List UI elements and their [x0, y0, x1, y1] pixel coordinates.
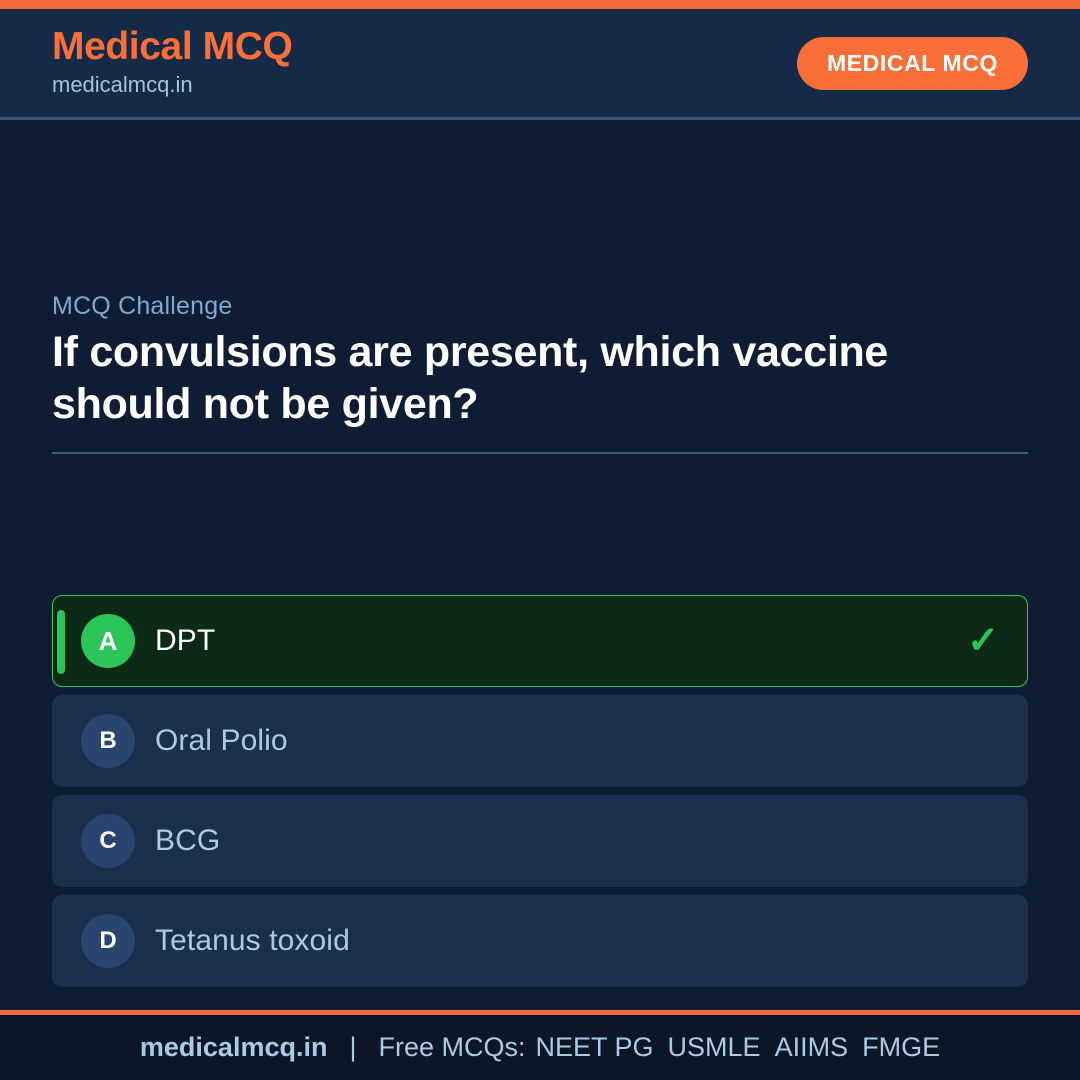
- brand: Medical MCQ medicalmcq.in: [52, 27, 292, 100]
- footer-exam-neet-pg: NEET PG: [536, 1032, 654, 1063]
- option-label: Tetanus toxoid: [155, 926, 350, 956]
- question-divider: [52, 452, 1028, 454]
- option-letter-badge: D: [81, 914, 135, 968]
- option-letter-badge: A: [81, 614, 135, 668]
- option-b[interactable]: B Oral Polio: [52, 695, 1028, 787]
- correct-accent-bar: [57, 610, 65, 674]
- footer-bar: medicalmcq.in | Free MCQs: NEET PG USMLE…: [0, 1010, 1080, 1080]
- option-d[interactable]: D Tetanus toxoid: [52, 895, 1028, 987]
- kicker-label: MCQ Challenge: [52, 292, 1028, 321]
- header-bar: Medical MCQ medicalmcq.in MEDICAL MCQ: [0, 9, 1080, 120]
- footer-separator: |: [349, 1032, 356, 1063]
- option-letter-badge: C: [81, 814, 135, 868]
- brand-title: Medical MCQ: [52, 27, 292, 68]
- footer-exam-usmle: USMLE: [668, 1032, 761, 1063]
- check-icon: ✓: [967, 622, 999, 660]
- option-label: Oral Polio: [155, 726, 288, 756]
- option-a[interactable]: A DPT ✓: [52, 595, 1028, 687]
- header-badge: MEDICAL MCQ: [797, 37, 1028, 90]
- top-accent-stripe: [0, 0, 1080, 9]
- footer-exam-aiims: AIIMS: [775, 1032, 849, 1063]
- main-content: MCQ Challenge If convulsions are present…: [0, 120, 1080, 1010]
- footer-label: Free MCQs:: [378, 1032, 525, 1063]
- footer-text: medicalmcq.in | Free MCQs: NEET PG USMLE…: [140, 1032, 940, 1063]
- question-text: If convulsions are present, which vaccin…: [52, 327, 1028, 430]
- footer-site-link[interactable]: medicalmcq.in: [140, 1032, 328, 1063]
- question-block: MCQ Challenge If convulsions are present…: [52, 292, 1028, 454]
- options-list: A DPT ✓ B Oral Polio C BCG D Tetanus tox…: [52, 595, 1028, 987]
- brand-subtitle: medicalmcq.in: [52, 70, 292, 100]
- option-label: DPT: [155, 626, 215, 656]
- option-letter-badge: B: [81, 714, 135, 768]
- option-label: BCG: [155, 826, 220, 856]
- footer-exam-fmge: FMGE: [862, 1032, 940, 1063]
- option-c[interactable]: C BCG: [52, 795, 1028, 887]
- mcq-card: Medical MCQ medicalmcq.in MEDICAL MCQ MC…: [0, 0, 1080, 1080]
